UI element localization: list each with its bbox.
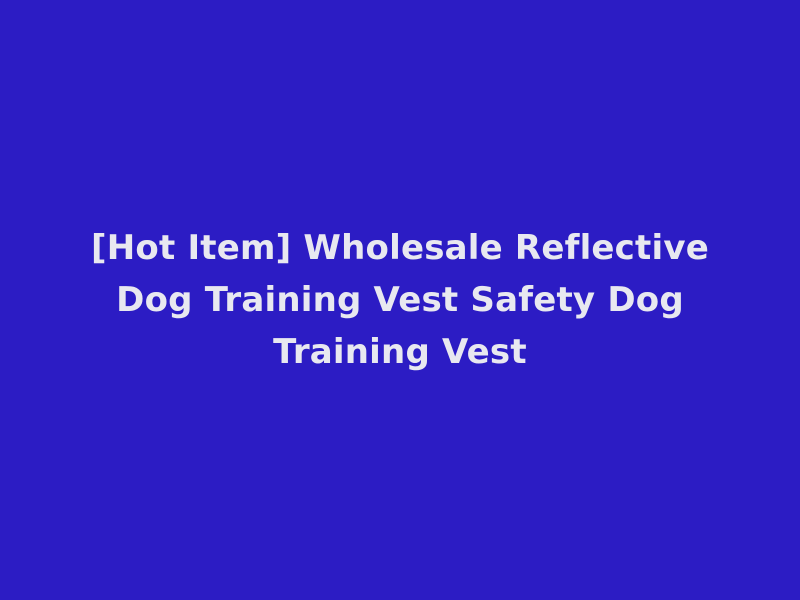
title-block: [Hot Item] Wholesale Reflective Dog Trai… (50, 222, 750, 378)
product-title: [Hot Item] Wholesale Reflective Dog Trai… (60, 222, 740, 378)
placeholder-canvas: [Hot Item] Wholesale Reflective Dog Trai… (0, 0, 800, 600)
